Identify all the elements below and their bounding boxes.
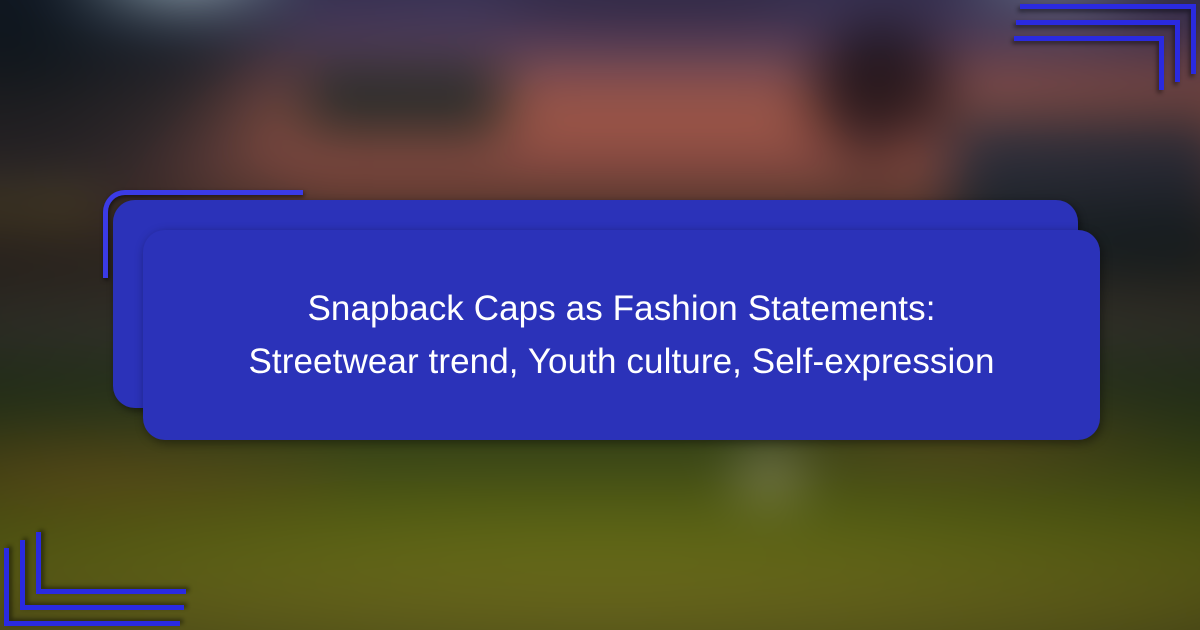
page-title: Snapback Caps as Fashion Statements: Str… <box>222 282 1022 388</box>
social-card-canvas: Snapback Caps as Fashion Statements: Str… <box>0 0 1200 630</box>
title-card: Snapback Caps as Fashion Statements: Str… <box>143 230 1100 440</box>
